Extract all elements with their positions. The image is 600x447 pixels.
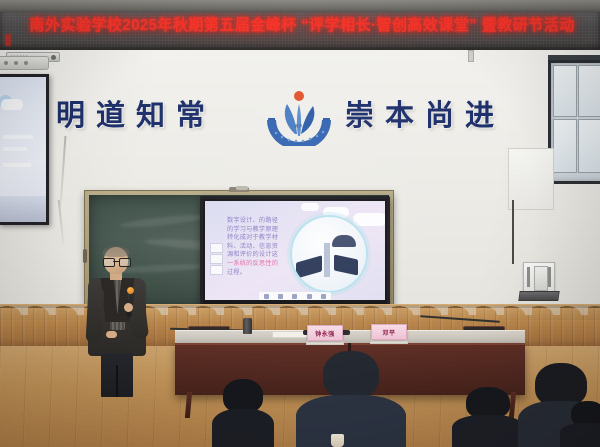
wall-crack: [60, 136, 67, 206]
projector-lens-icon: [51, 55, 56, 60]
equipment-slot-right: [548, 267, 551, 287]
audience-body: [452, 415, 524, 447]
control-dot-2: [14, 61, 18, 65]
slide-surface: 数字设计、的路径 的学习与教学原理 转化成对于教学材 料、活动、信息资 源和评价…: [205, 201, 385, 303]
emblem-caption: 南外: [262, 124, 336, 129]
audience-cup: [331, 434, 344, 447]
slide-line-g: 过程。: [227, 269, 246, 276]
window-pane-1: [553, 65, 577, 117]
wall-slogan-right: 崇本尚进: [345, 92, 505, 134]
equipment-cabinet-body: [523, 262, 555, 294]
equipment-shelf: [518, 291, 559, 301]
secondary-display-surface: [0, 77, 46, 222]
slide-shape-left: [296, 255, 322, 278]
window-pane-2: [578, 65, 600, 117]
name-card-1: 钟永强: [307, 325, 343, 341]
screen-top-mount: [236, 186, 248, 190]
window-pane-4: [578, 119, 600, 173]
presenter-hair: [103, 246, 129, 257]
slide-cloud-shape: [1, 99, 23, 110]
presenter-leg-gap: [116, 365, 118, 397]
audience-body: [296, 395, 406, 447]
slide-body-text: 数字设计、的路径 的学习与教学原理 转化成对于教学材 料、活动、信息资 源和评价…: [227, 217, 289, 277]
toolbar-icon-1[interactable]: [264, 294, 269, 299]
presenter-arm-left: [86, 287, 105, 344]
wall-notice-panel: [508, 148, 554, 210]
slide-cloud-3: [301, 203, 319, 211]
name-card-2-label: 邓平: [382, 328, 395, 337]
blackboard-hinge: [83, 249, 87, 263]
toolbar-icon-3[interactable]: [292, 294, 297, 299]
slide-footer-band: [0, 196, 46, 222]
audience-head: [323, 351, 379, 399]
slide-line-2: [3, 147, 27, 151]
slide-line-d: 料、活动、信息资: [227, 243, 278, 250]
wall-equipment-cabinet: [519, 262, 557, 308]
audience-member-3: [452, 395, 524, 447]
name-card-2: 邓平: [371, 324, 407, 340]
led-banner: 南外实验学校2025年秋期第五届金峰杯 “评学相长·智创高效课堂” 暨教研节活动…: [0, 12, 600, 52]
slide-line-a: 数字设计、的路径: [227, 217, 278, 224]
led-banner-text: 南外实验学校2025年秋期第五届金峰杯 “评学相长·智创高效课堂” 暨教研节活动: [12, 16, 592, 35]
equipment-unit: [534, 266, 548, 291]
slide-shape-top: [332, 235, 356, 247]
ceiling-hook: [468, 50, 474, 62]
toolbar-icon-5[interactable]: [321, 294, 326, 299]
presenter-hand-right: [124, 303, 133, 312]
slide-line-highlight: 一系统的反思性的: [227, 260, 278, 267]
window-pane-3: [553, 119, 577, 173]
glasses-lens-right: [119, 258, 131, 267]
presenter-hand-left: [106, 331, 117, 338]
slide-line-c: 转化成对于教学材: [227, 234, 278, 241]
smart-interactive-screen[interactable]: 数字设计、的路径 的学习与教学原理 转化成对于教学材 料、活动、信息资 源和评价…: [200, 196, 390, 308]
led-banner-subtext: · · · · · · · ·: [0, 36, 600, 41]
slide-bullet-markers: [210, 243, 221, 276]
slide-shape-divider: [324, 243, 330, 277]
control-dot-1: [4, 61, 8, 65]
audience-body: [212, 409, 274, 447]
slide-line-e: 源和评价的设计这: [227, 251, 278, 258]
thermos-flask: [243, 318, 252, 334]
audience-member-5: [560, 407, 600, 447]
audience-member-1: [212, 387, 274, 447]
slide-line-3: [3, 163, 31, 167]
display-control-bar: [0, 56, 49, 70]
slide-line-b: 的学习与教学原理: [227, 226, 278, 233]
microphone-head-icon: [127, 287, 134, 294]
audience-body: [560, 423, 600, 447]
slide-cloud-2: [353, 213, 385, 226]
screen-toolbar[interactable]: [259, 292, 331, 300]
toolbar-icon-4[interactable]: [307, 294, 312, 299]
glasses-lens-left: [103, 258, 115, 267]
wall-slogan-left: 明道知常: [56, 92, 216, 134]
classroom-photo: 南外实验学校2025年秋期第五届金峰杯 “评学相长·智创高效课堂” 暨教研节活动…: [0, 0, 600, 447]
school-emblem: 南外: [262, 84, 336, 146]
equipment-cable-vertical: [512, 200, 514, 264]
slide-illustration-circle: [290, 215, 368, 293]
equipment-slot-left: [527, 267, 530, 287]
audience-member-2: [296, 359, 406, 447]
control-dot-3: [24, 61, 28, 65]
wall-crack-lower: [58, 200, 65, 244]
name-card-1-label: 钟永强: [315, 329, 335, 338]
slide-shape-right: [334, 254, 358, 275]
slide-line-1: [3, 135, 33, 139]
secondary-display: [0, 74, 49, 225]
right-window: [548, 60, 600, 184]
presenter-speaker: [88, 247, 146, 397]
audience-head: [223, 379, 263, 413]
glasses-icon: [103, 258, 129, 265]
toolbar-icon-2[interactable]: [278, 294, 283, 299]
